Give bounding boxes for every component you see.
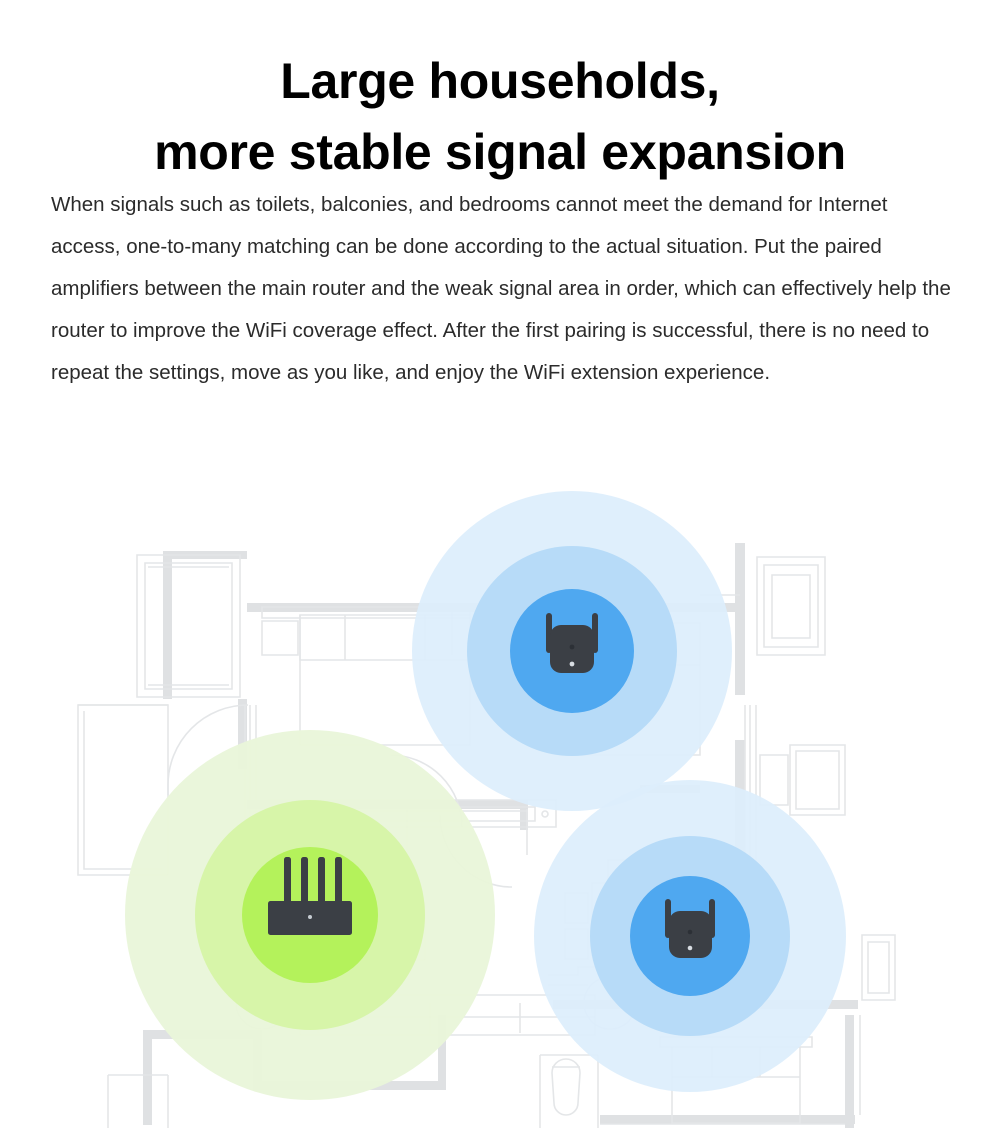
description-paragraph: When signals such as toilets, balconies,…	[51, 184, 951, 394]
page-title: Large households, more stable signal exp…	[0, 46, 1000, 188]
description-text: When signals such as toilets, balconies,…	[51, 184, 951, 394]
product-feature-panel: Large households, more stable signal exp…	[0, 0, 1000, 1128]
page-title-line-1: Large households,	[0, 46, 1000, 117]
coverage-illustration	[0, 455, 1000, 1128]
floorplan-coverage-svg	[0, 455, 1000, 1128]
page-title-line-2: more stable signal expansion	[0, 117, 1000, 188]
